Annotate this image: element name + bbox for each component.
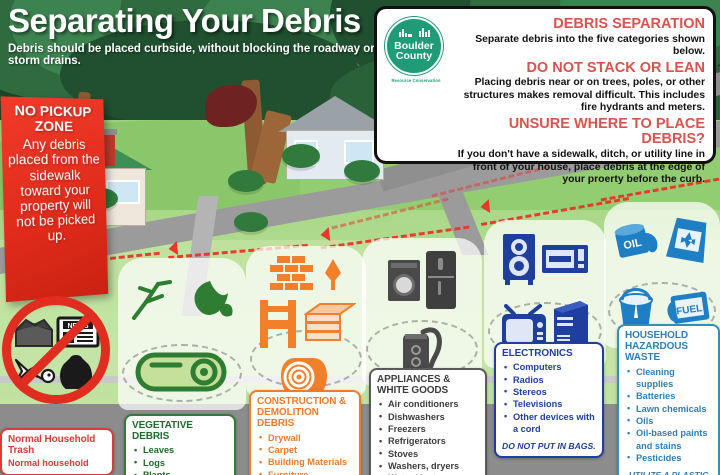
list-item: Plants [132,469,228,475]
drywall-stack-icon [304,302,356,346]
oil-can-icon: OIL [611,215,667,266]
info-heading-do-not-stack: DO NOT STACK OR LEAN [451,61,705,77]
card-construction-demolition-debris: CONSTRUCTION & DEMOLITION DEBRIS Drywall… [249,390,361,475]
card-heading: VEGETATIVE DEBRIS [132,420,228,442]
list-item: Building Materials [257,456,353,468]
card-household-hazardous-waste: HOUSEHOLD HAZARDOUS WASTE Cleaning suppl… [617,324,720,475]
page-subtitle: Debris should be placed curbside, withou… [8,43,388,67]
list-item: Drywall [257,432,353,444]
bubble-icons [246,246,366,396]
card-items: Drywall Carpet Building Materials Furnit… [257,432,353,475]
logo-tagline: Resource Conservation [385,78,447,83]
list-item: Radios [502,374,596,386]
info-text-debris-separation: Separate debris into the five categories… [451,34,705,59]
card-heading: APPLIANCES & WHITE GOODS [377,374,479,396]
page-title: Separating Your Debris [8,4,388,39]
list-item: Pesticides [625,452,712,464]
bush [282,144,320,168]
bubble-icons [118,258,246,410]
infographic-canvas: OIL FUEL [0,0,720,475]
card-items: Air conditioners Dishwashers Freezers Re… [377,398,479,475]
list-item: Leaves [132,444,228,456]
arrow-head-icon [320,227,330,242]
info-panel-body: DEBRIS SEPARATION Separate debris into t… [451,17,705,187]
bush [234,212,268,232]
boulder-county-logo: Boulder County Resource Conservation [385,17,447,83]
washing-machine-icon [387,258,421,302]
water-heater-icon [401,322,443,374]
brick-wall-icon [269,254,319,294]
card-items: Computers Radios Stereos Televisions Oth… [502,361,596,435]
trowel-icon [323,257,343,291]
no-pickup-zone-body: Any debris placed from the sidewalk towa… [7,137,102,246]
list-item: Oils [625,415,712,427]
list-item: Oil-based paints and stains [625,427,712,452]
list-item: Batteries [625,390,712,402]
leaf-icon [184,277,236,323]
no-normal-trash-sign: NEWS [2,296,110,404]
card-electronics: ELECTRONICS Computers Radios Stereos Tel… [494,342,604,458]
bubble-icons [362,238,482,386]
list-item: Logs [132,457,228,469]
card-appliances-white-goods: APPLIANCES & WHITE GOODS Air conditioner… [369,368,487,475]
chemical-bag-icon [663,215,712,268]
list-item: Freezers [377,423,479,435]
list-item: Other devices with a cord [502,411,596,436]
list-item: Televisions [502,398,596,410]
list-item: Lawn chemicals [625,403,712,415]
info-heading-unsure-where: UNSURE WHERE TO PLACE DEBRIS? [451,117,705,148]
speaker-icon [501,233,537,285]
list-item: Dishwashers [377,411,479,423]
list-item: Computers [502,361,596,373]
no-pickup-zone-heading: NO PICKUP ZONE [6,103,100,134]
arrow-head-icon [168,241,178,256]
list-item: Refrigerators [377,435,479,447]
bubble-appliances [362,238,482,386]
card-note: UTILIZE A PLASTIC CONTAINER LABELED "HHW… [625,470,712,475]
list-item: Stereos [502,386,596,398]
card-heading: Normal Household Trash [8,434,106,456]
arrow-head-icon [480,199,490,214]
bush [228,170,264,192]
list-item: Furniture [257,469,353,475]
skyline-icon [387,27,441,37]
bubble-vegetative-debris [118,258,246,410]
list-item: Washers, dryers [377,460,479,472]
info-text-unsure-where: If you don't have a sidewalk, ditch, or … [451,149,705,186]
card-subtext: Normal household [8,458,106,470]
branch-icon [128,274,180,326]
card-items: Cleaning supplies Batteries Lawn chemica… [625,366,712,465]
card-heading: ELECTRONICS [502,348,596,359]
card-items: Leaves Logs Plants Tree branches [132,444,228,475]
card-heading: CONSTRUCTION & DEMOLITION DEBRIS [257,396,353,430]
bubble-construction-debris [246,246,366,396]
refrigerator-icon [425,250,457,310]
list-item: Stoves [377,448,479,460]
chair-icon [256,298,300,350]
boulder-county-seal-icon: Boulder County [385,17,443,75]
no-pickup-zone-banner: NO PICKUP ZONE Any debris placed from th… [1,96,109,302]
card-note: DO NOT PUT IN BAGS. [502,441,596,452]
list-item: Carpet [257,444,353,456]
logo-line-2: County [396,51,432,62]
card-vegetative-debris: VEGETATIVE DEBRIS Leaves Logs Plants Tre… [124,414,236,475]
microwave-icon [541,243,589,275]
info-heading-debris-separation: DEBRIS SEPARATION [451,17,705,33]
info-panel: Boulder County Resource Conservation DEB… [374,6,716,164]
log-icon [134,345,230,395]
header: Separating Your Debris Debris should be … [8,4,388,67]
info-text-do-not-stack: Placing debris near or on trees, poles, … [451,77,705,114]
bush [344,160,380,182]
list-item: Air conditioners [377,398,479,410]
card-normal-household-trash: Normal Household Trash Normal household [0,428,114,475]
list-item: Cleaning supplies [625,366,712,391]
card-heading: HOUSEHOLD HAZARDOUS WASTE [625,330,712,364]
